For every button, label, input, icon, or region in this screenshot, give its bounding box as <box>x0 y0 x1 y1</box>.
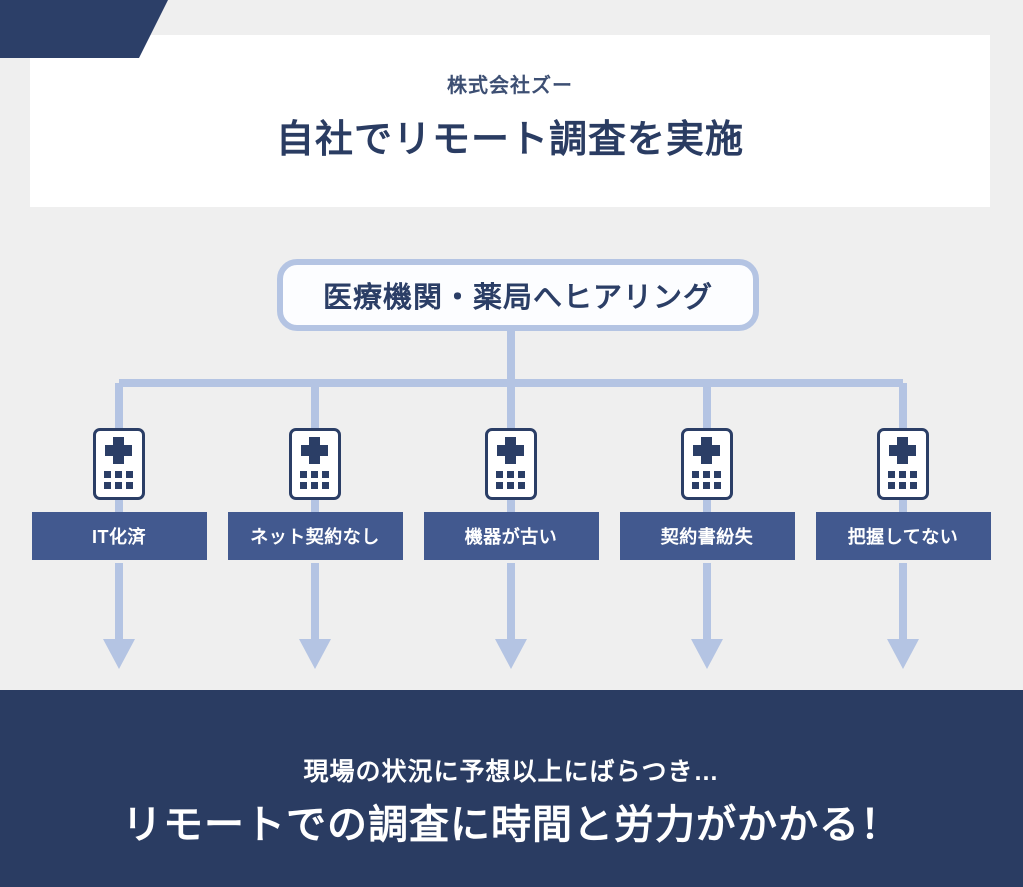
branch-column-2: ネット契約なし <box>217 428 413 560</box>
hospital-pharmacy-icon <box>289 428 341 500</box>
branch-label-text-1: IT化済 <box>92 523 146 549</box>
root-node-label: 医療機関・薬局へヒアリング <box>323 274 713 316</box>
branch-column-5: 把握してない <box>805 428 1001 560</box>
before-badge <box>0 0 168 58</box>
branch-label-text-4: 契約書紛失 <box>661 523 754 549</box>
hospital-pharmacy-icon <box>485 428 537 500</box>
branch-column-4: 契約書紛失 <box>609 428 805 560</box>
hospital-pharmacy-icon <box>681 428 733 500</box>
branch-label-box-1: IT化済 <box>32 512 207 560</box>
footer-subtext: 現場の状況に予想以上にばらつき… <box>0 752 1023 788</box>
branch-label-box-5: 把握してない <box>816 512 991 560</box>
branch-column-1: IT化済 <box>21 428 217 560</box>
slide-canvas: 株式会社ズー 自社でリモート調査を実施 Before <box>0 0 1023 887</box>
branch-column-3: 機器が古い <box>413 428 609 560</box>
branch-label-text-5: 把握してない <box>848 523 958 549</box>
branch-label-text-3: 機器が古い <box>465 523 558 549</box>
root-node-hearing: 医療機関・薬局へヒアリング <box>277 259 759 331</box>
branch-label-box-2: ネット契約なし <box>228 512 403 560</box>
hospital-pharmacy-icon <box>877 428 929 500</box>
branch-label-box-4: 契約書紛失 <box>620 512 795 560</box>
branch-label-box-3: 機器が古い <box>424 512 599 560</box>
branch-label-text-2: ネット契約なし <box>250 523 380 549</box>
footer-banner: 現場の状況に予想以上にばらつき… リモートでの調査に時間と労力がかかる！ <box>0 690 1023 887</box>
footer-headline: リモートでの調査に時間と労力がかかる！ <box>0 792 1023 850</box>
hospital-pharmacy-icon <box>93 428 145 500</box>
